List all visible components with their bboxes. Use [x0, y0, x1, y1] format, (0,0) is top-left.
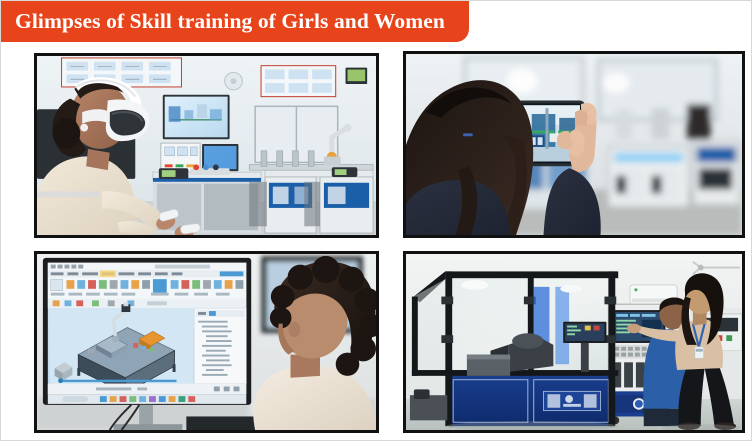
photo-top-right: Woman seen from behind holding a tablet … [403, 51, 745, 238]
photo-bottom-left: Woman viewing a large monitor displaying… [34, 251, 379, 433]
page-root: Glimpses of Skill training of Girls and … [0, 0, 752, 441]
page-title: Glimpses of Skill training of Girls and … [15, 11, 445, 33]
photo-top-right-scene [406, 54, 742, 235]
title-banner: Glimpses of Skill training of Girls and … [1, 1, 469, 42]
photo-bottom-right: Woman instructor pointing at the control… [403, 251, 745, 433]
photo-top-left: Woman trainee wearing a white VR headset… [34, 53, 379, 238]
photo-bottom-left-scene [37, 254, 376, 430]
photo-bottom-right-scene [406, 254, 742, 430]
photo-top-left-scene [37, 56, 376, 235]
